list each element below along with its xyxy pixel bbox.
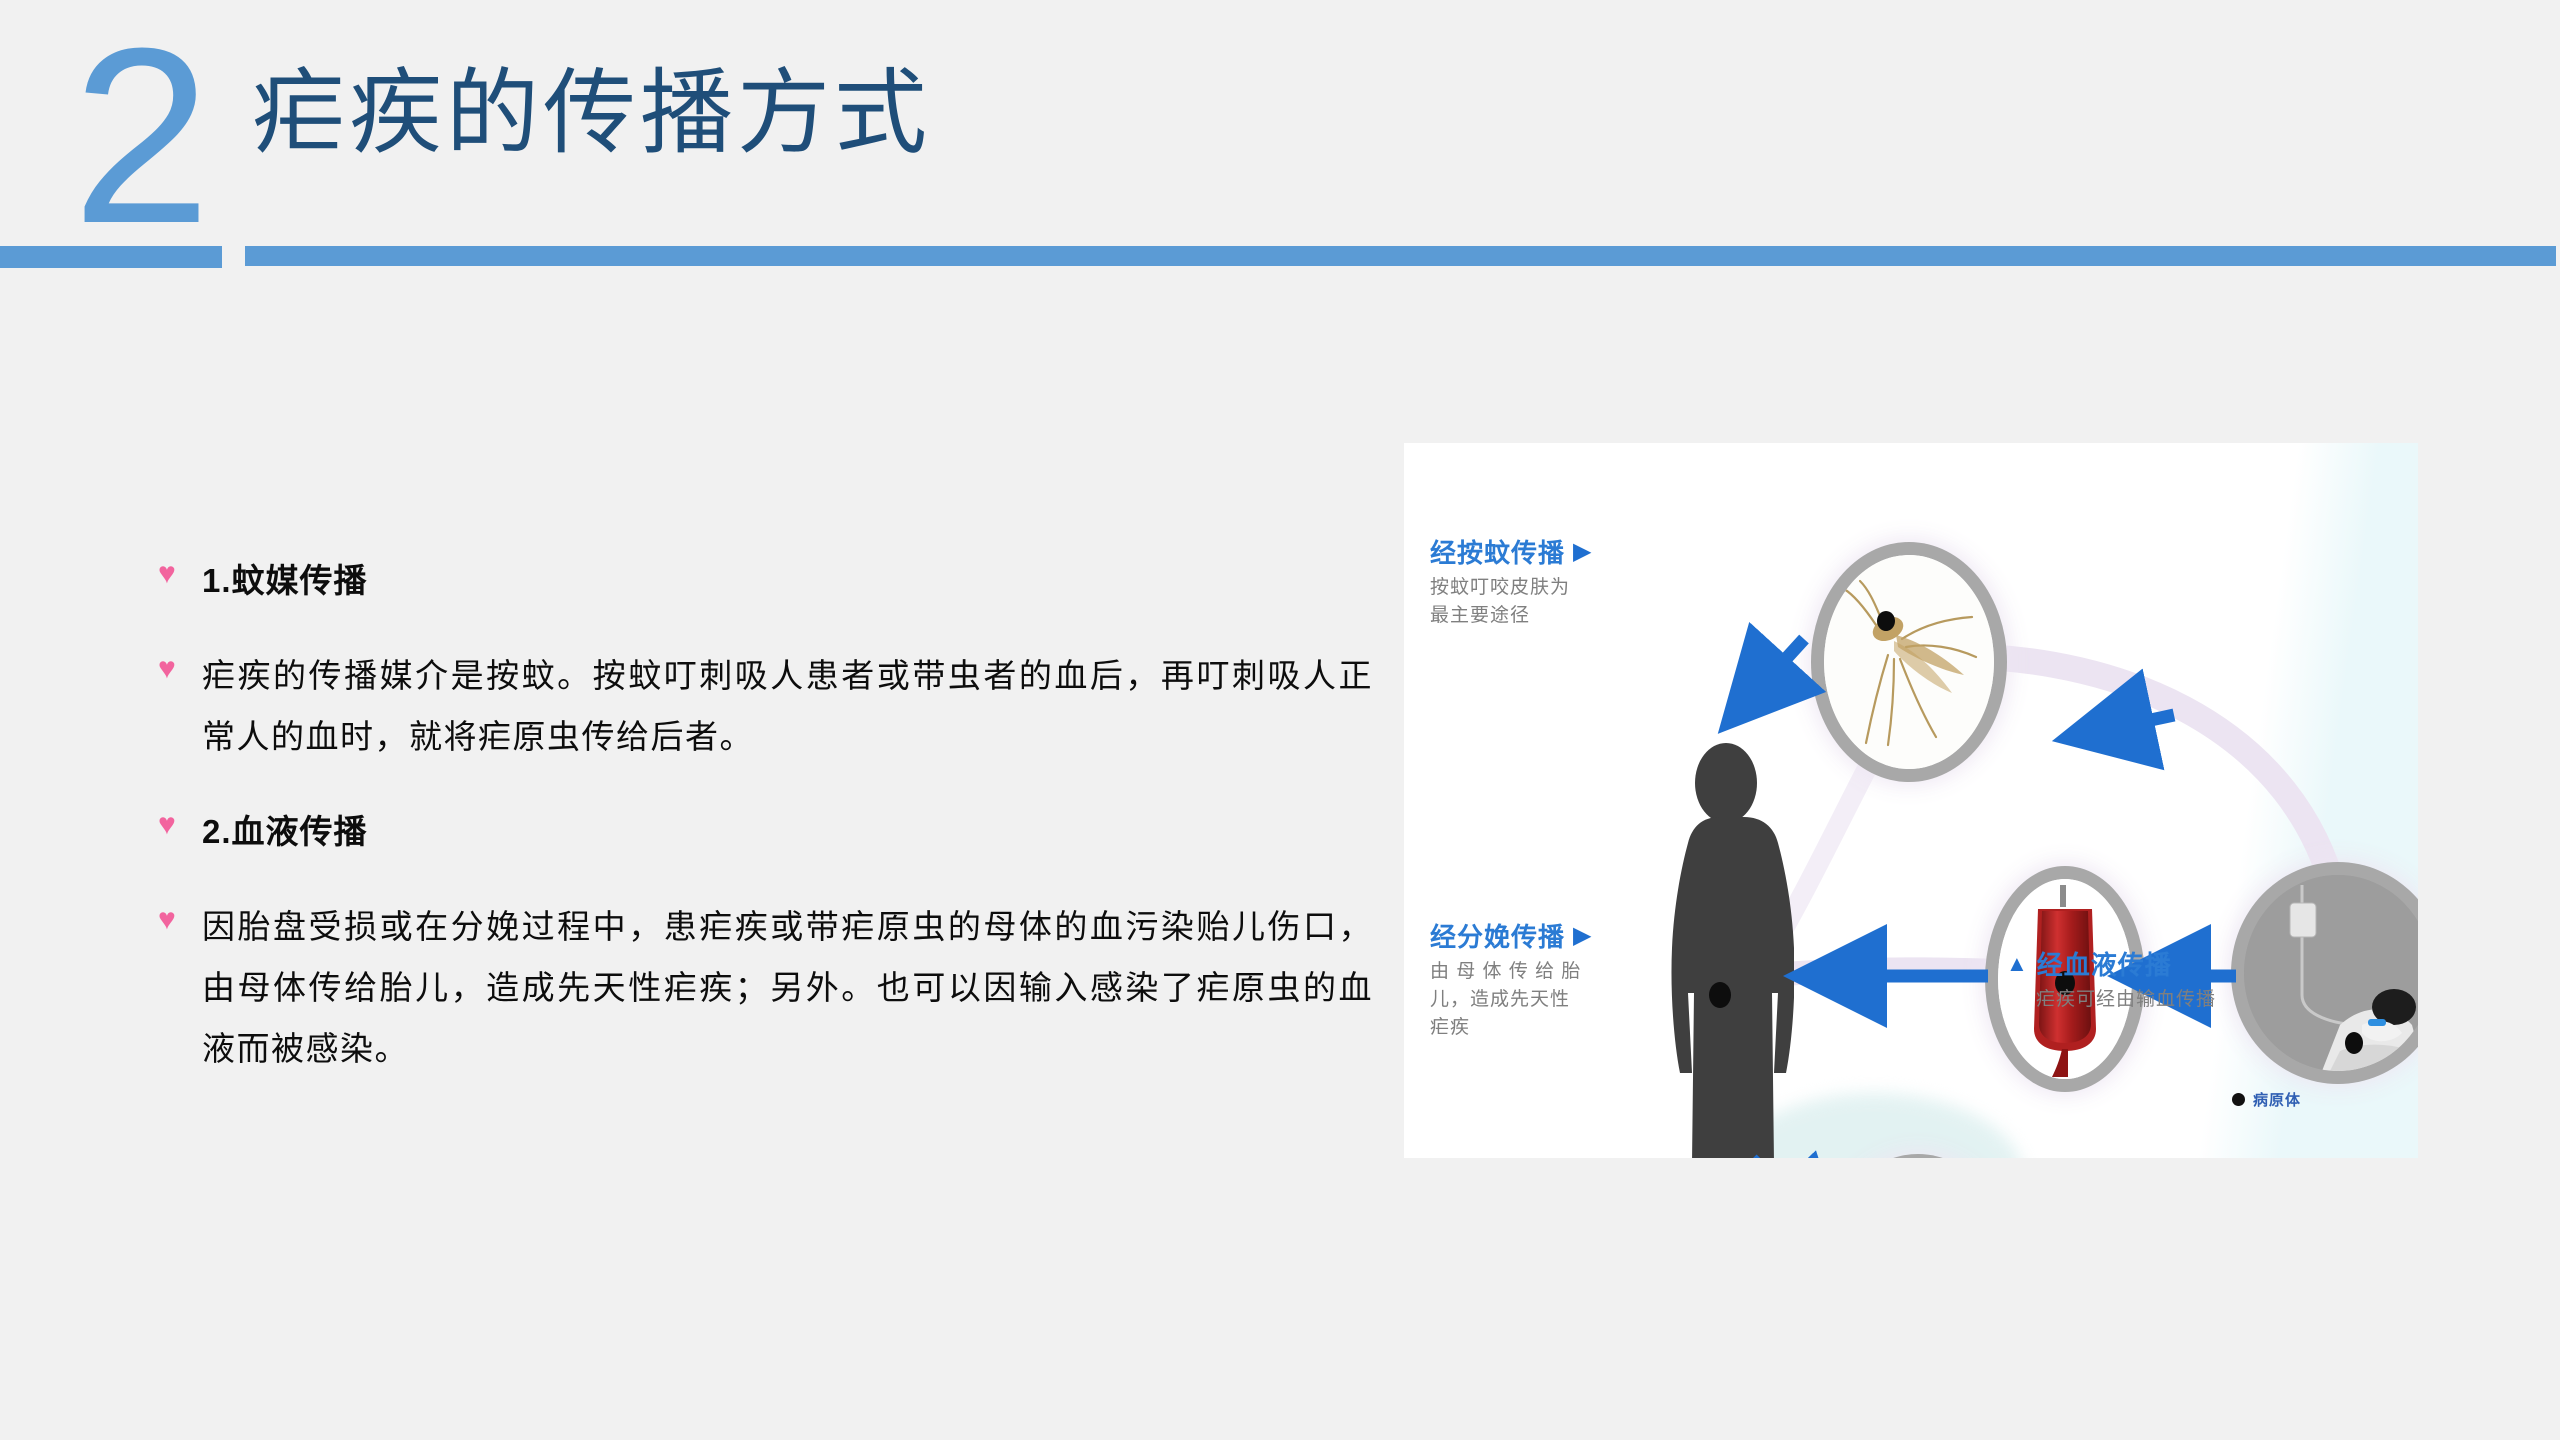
label-mosquito-transmission: 经按蚊传播 ▶ 按蚊叮咬皮肤为 最主要途径 [1430,533,1592,630]
list-item-label: 疟疾的传播媒介是按蚊。按蚊叮刺吸人患者或带虫者的血后，再叮刺吸人正常人的血时，就… [202,645,1373,767]
label-subtitle-line: 最主要途径 [1430,602,1592,630]
label-title: 经分娩传播 [1430,917,1565,954]
triangle-up-icon: ▲ [2006,953,2029,975]
section-number: 2 [72,28,207,243]
label-title: 经血液传播 [2037,945,2172,982]
transmission-diagram-card: 经按蚊传播 ▶ 按蚊叮咬皮肤为 最主要途径 经分娩传播 ▶ 由 母 体 传 给 … [1404,443,2418,1158]
list-item-label: 1.蚊媒传播 [202,550,1373,611]
list-item: ♥ 疟疾的传播媒介是按蚊。按蚊叮刺吸人患者或带虫者的血后，再叮刺吸人正常人的血时… [158,645,1373,767]
list-item-label: 因胎盘受损或在分娩过程中，患疟疾或带疟原虫的母体的血污染贻儿伤口，由母体传给胎儿… [202,896,1373,1079]
list-item: ♥ 2.血液传播 [158,801,1373,862]
label-title: 经按蚊传播 [1430,533,1565,570]
arrow-mosquito-to-person [1744,639,1804,705]
label-subtitle-line: 疟疾 [1430,1014,1592,1042]
label-subtitle-line: 由 母 体 传 给 胎 [1430,958,1592,986]
legend-label: 病原体 [2253,1089,2301,1110]
legend: 病原体 [2232,1089,2301,1110]
heart-icon: ♥ [158,801,202,849]
heart-icon: ♥ [158,550,202,598]
list-item: ♥ 1.蚊媒传播 [158,550,1373,611]
list-item-label: 2.血液传播 [202,801,1373,862]
label-subtitle-line: 疟疾可经由输血传播 [2036,986,2216,1014]
label-subtitle-line: 儿，造成先天性 [1430,986,1592,1014]
page-title: 疟疾的传播方式 [252,58,931,168]
list-item: ♥ 因胎盘受损或在分娩过程中，患疟疾或带疟原虫的母体的血污染贻儿伤口，由母体传给… [158,896,1373,1079]
slide-header: 2 疟疾的传播方式 [0,0,2560,270]
pathogen-legend-dot [2232,1093,2245,1106]
heart-icon: ♥ [158,645,202,693]
label-subtitle-line: 按蚊叮咬皮肤为 [1430,574,1592,602]
label-birth-transmission: 经分娩传播 ▶ 由 母 体 传 给 胎 儿，造成先天性 疟疾 [1430,917,1592,1042]
label-blood-transmission: ▲ 经血液传播 疟疾可经由输血传播 [2006,945,2216,1014]
bullet-list: ♥ 1.蚊媒传播 ♥ 疟疾的传播媒介是按蚊。按蚊叮刺吸人患者或带虫者的血后，再叮… [158,550,1373,1113]
triangle-right-icon: ▶ [1573,924,1592,948]
heart-icon: ♥ [158,896,202,944]
triangle-right-icon: ▶ [1573,540,1592,564]
title-underline-rule [245,246,2556,266]
arrow-cycle-return [2090,715,2174,733]
